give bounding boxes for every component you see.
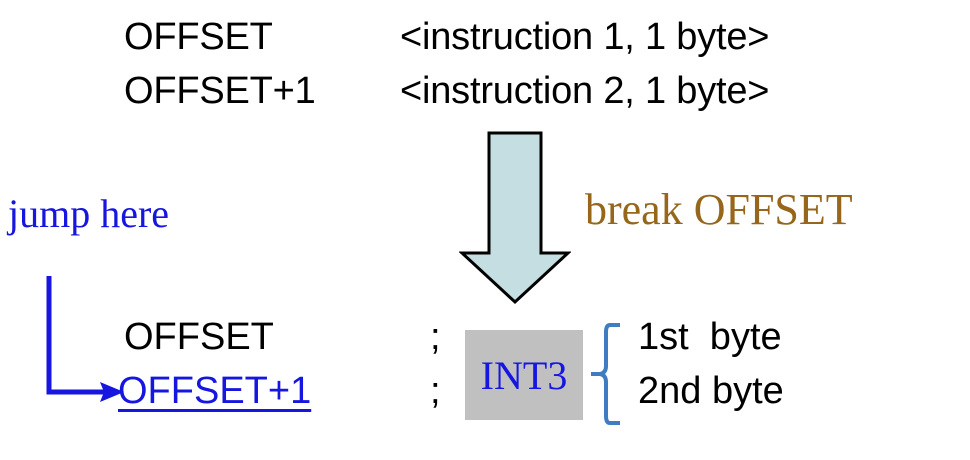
original-row-1-instruction: <instruction 2, 1 byte> [400,72,769,110]
patched-row-1-byte-label: 2nd byte [638,372,784,410]
original-row-1-address: OFFSET+1 [124,72,316,110]
break-command-label: break OFFSET [585,188,853,232]
patched-row-1-address[interactable]: OFFSET+1 [118,372,311,410]
diagram-canvas: OFFSET <instruction 1, 1 byte> OFFSET+1 … [0,0,970,460]
curly-brace-icon [590,322,624,426]
patched-row-0-separator: ; [430,318,441,356]
elbow-arrow-icon [36,272,126,404]
int3-opcode-box: INT3 [465,330,583,420]
patched-row-1-separator: ; [430,372,441,410]
jump-here-label: jump here [8,194,169,234]
int3-opcode-label: INT3 [465,330,583,420]
patched-row-0-address: OFFSET [124,318,274,356]
down-arrow-icon [459,131,571,305]
original-row-0-address: OFFSET [124,18,273,56]
patched-row-0-byte-label: 1st byte [638,318,782,356]
original-row-0-instruction: <instruction 1, 1 byte> [400,18,769,56]
